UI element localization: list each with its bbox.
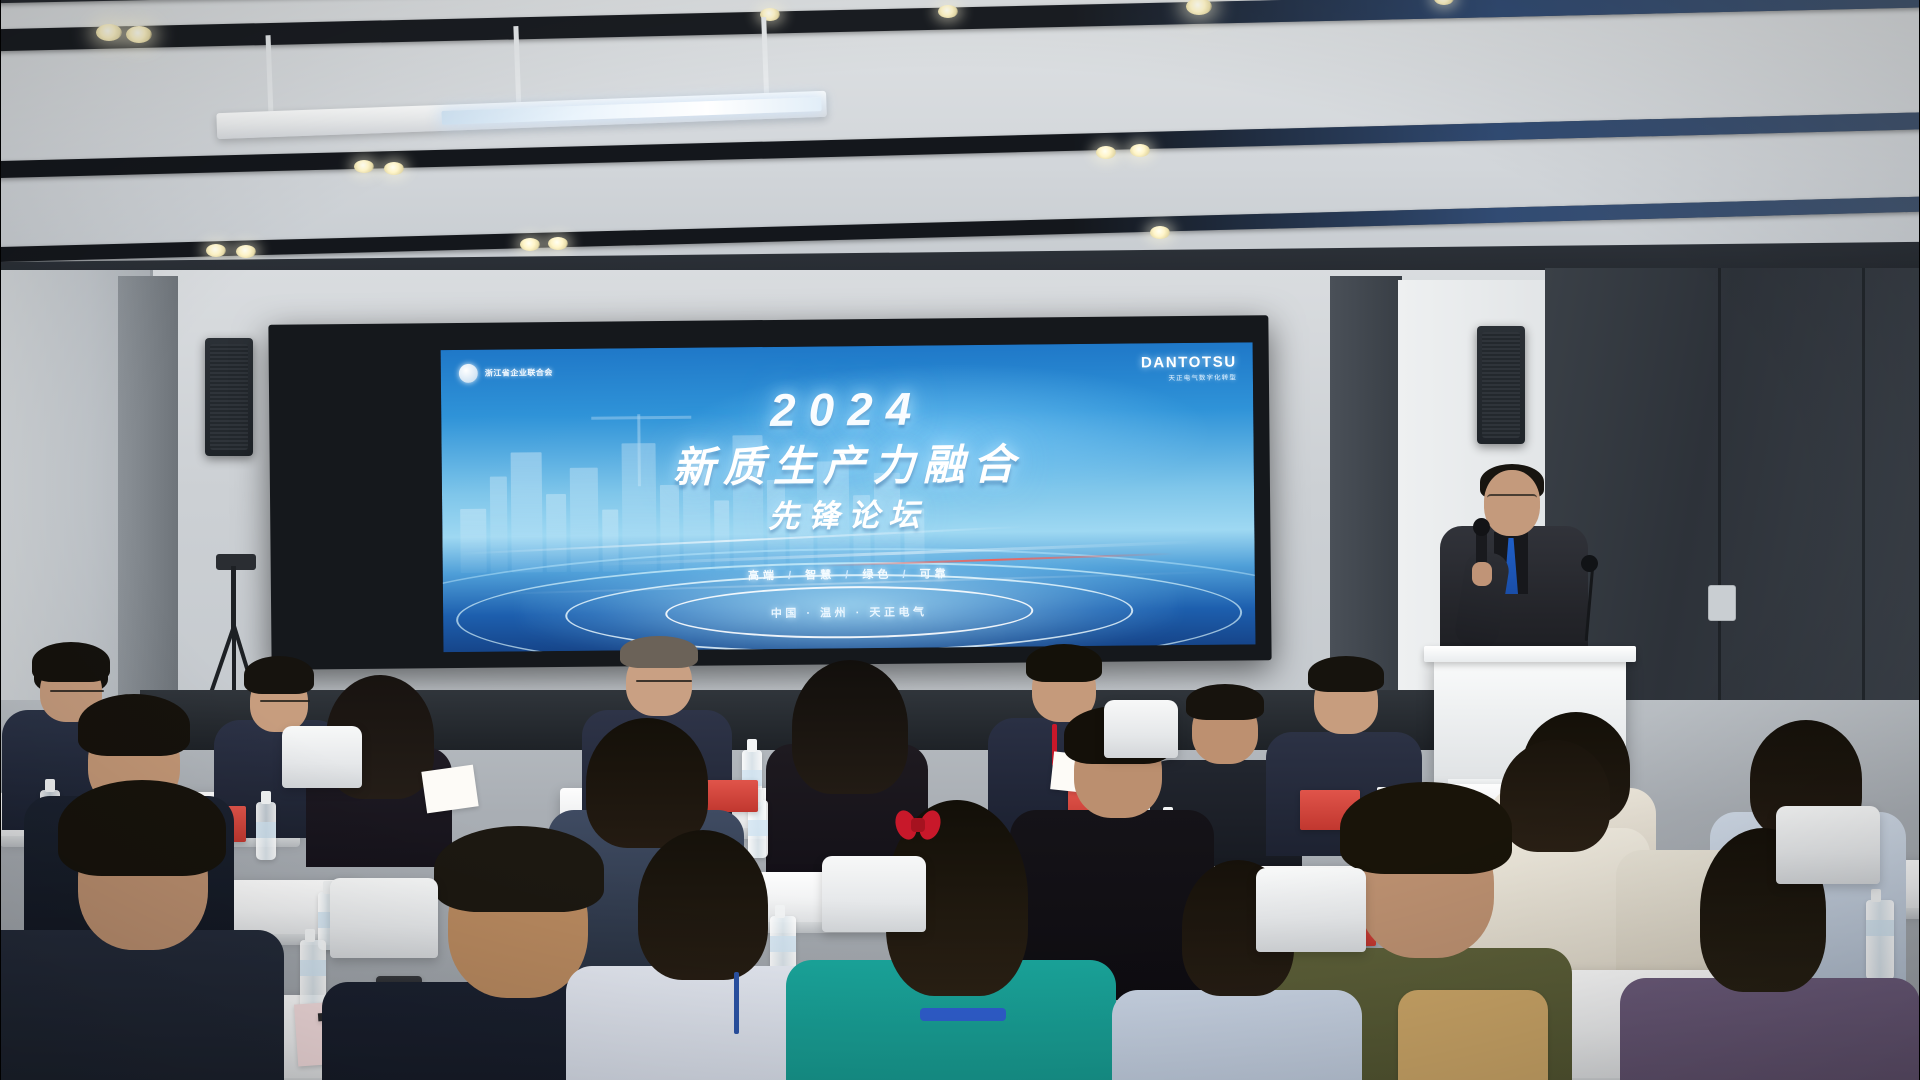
ceiling-spotlight xyxy=(1130,144,1150,157)
led-screen-frame: 浙江省企业联合会 DANTOTSU 天正电气数字化转型 2024 新质生产力融合… xyxy=(268,315,1271,670)
screen-subheadline: 先锋论坛 xyxy=(442,486,1254,539)
eyeglasses xyxy=(1487,494,1537,506)
eyeglasses xyxy=(50,690,104,692)
tagline-separator: / xyxy=(788,570,795,582)
water-bottle xyxy=(256,802,276,860)
lanyard xyxy=(734,972,739,1034)
loudspeaker-left xyxy=(205,338,253,456)
chair xyxy=(1256,868,1366,952)
ceiling-spotlight xyxy=(96,24,122,41)
eyeglasses xyxy=(260,700,310,702)
tagline-part: 可靠 xyxy=(920,568,950,580)
water-bottle xyxy=(1866,900,1894,980)
chair xyxy=(282,726,362,788)
conference-photo: 浙江省企业联合会 DANTOTSU 天正电气数字化转型 2024 新质生产力融合… xyxy=(0,0,1920,1080)
presenter xyxy=(1432,470,1592,670)
paper-sheet xyxy=(421,765,478,814)
ceiling-spotlight xyxy=(520,238,540,251)
jacket-collar xyxy=(1398,990,1548,1080)
screen-logo-left-text: 浙江省企业联合会 xyxy=(485,367,553,379)
chair xyxy=(330,878,438,958)
chair xyxy=(822,856,926,932)
chair xyxy=(1776,806,1880,884)
tagline-separator: / xyxy=(902,569,909,581)
gooseneck-microphone-head xyxy=(1581,555,1598,572)
ceiling-spotlight xyxy=(354,160,374,173)
ceiling-spotlight xyxy=(548,237,568,250)
ceiling-spotlight xyxy=(236,245,256,258)
wall-socket xyxy=(1708,585,1736,621)
ceiling-spotlight xyxy=(206,244,226,257)
ceiling-beam xyxy=(0,0,1920,52)
chair xyxy=(1104,700,1178,758)
ceiling-spotlight xyxy=(384,162,404,175)
wall-pillar-left xyxy=(118,276,178,746)
ceiling-spotlight xyxy=(126,26,152,43)
screen-logo-left: 浙江省企业联合会 xyxy=(459,363,553,383)
pendant-light-fixture xyxy=(215,67,826,129)
hair-bow xyxy=(896,810,940,840)
ceiling-spotlight xyxy=(1096,146,1116,159)
tagline-separator: / xyxy=(845,569,852,581)
eyeglasses xyxy=(636,680,692,682)
circle-emblem-icon xyxy=(459,364,478,383)
tagline-part: 智慧 xyxy=(805,569,835,581)
ceiling-spotlight xyxy=(938,5,958,18)
tagline-part: 高端 xyxy=(748,570,778,582)
red-folder xyxy=(706,780,758,812)
tagline-part: 绿色 xyxy=(862,569,892,581)
frame-edge xyxy=(0,0,1,1080)
brand-name: DANTOTSU xyxy=(1141,355,1237,371)
hood-drawstring xyxy=(920,1008,1006,1021)
ceiling-spotlight xyxy=(1150,226,1170,239)
loudspeaker-right xyxy=(1477,326,1525,444)
led-screen: 浙江省企业联合会 DANTOTSU 天正电气数字化转型 2024 新质生产力融合… xyxy=(441,342,1256,652)
